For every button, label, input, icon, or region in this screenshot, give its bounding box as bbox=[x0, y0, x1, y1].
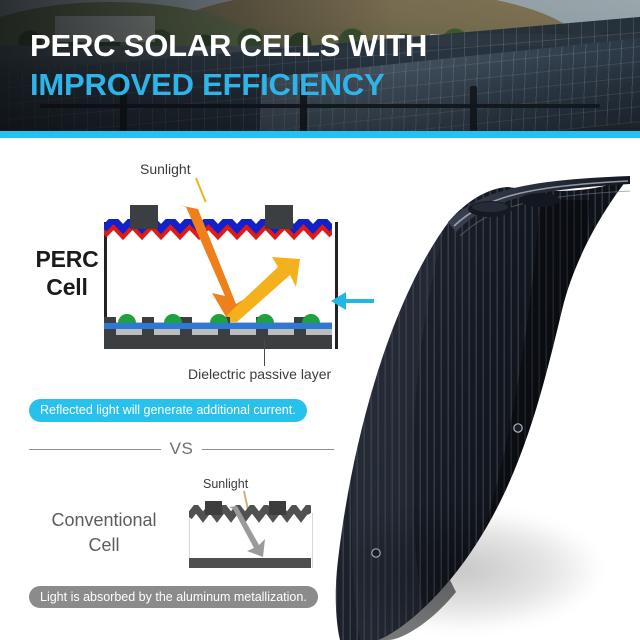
conventional-cell-label-line2: Cell bbox=[24, 533, 184, 558]
infographic-page: PERC SOLAR CELLS WITH IMPROVED EFFICIENC… bbox=[0, 0, 640, 640]
dielectric-leader-line bbox=[264, 340, 265, 366]
accent-rule bbox=[0, 131, 640, 138]
conventional-drawback-badge: Light is absorbed by the aluminum metall… bbox=[29, 586, 318, 608]
flexible-solar-panel-photo bbox=[330, 140, 640, 640]
conventional-cell-diagram bbox=[189, 501, 311, 568]
conventional-sunlight-label: Sunlight bbox=[203, 477, 248, 491]
vs-divider: VS bbox=[29, 438, 334, 460]
perc-passivation-node bbox=[210, 314, 228, 323]
hero-banner: PERC SOLAR CELLS WITH IMPROVED EFFICIENC… bbox=[0, 0, 640, 137]
perc-passivation-node bbox=[164, 314, 182, 323]
perc-dielectric-passive-layer bbox=[104, 323, 332, 329]
divider-line-right bbox=[202, 449, 334, 450]
divider-line-left bbox=[29, 449, 161, 450]
perc-passivation-node bbox=[118, 314, 136, 323]
perc-sunlight-label: Sunlight bbox=[140, 161, 191, 177]
perc-cell-label: PERC Cell bbox=[21, 245, 113, 301]
perc-passivation-node bbox=[302, 314, 320, 323]
conventional-aluminum-metallization bbox=[189, 558, 311, 568]
title-line-1: PERC SOLAR CELLS WITH bbox=[30, 26, 590, 65]
dielectric-passive-layer-label: Dielectric passive layer bbox=[188, 366, 331, 382]
panel-drop-shadow bbox=[350, 510, 600, 630]
conventional-cell-label: Conventional Cell bbox=[24, 508, 184, 558]
vs-label: VS bbox=[170, 439, 194, 459]
perc-sunlight-leader-line bbox=[195, 178, 207, 203]
perc-cell-label-line2: Cell bbox=[21, 273, 113, 301]
conventional-cell-label-line1: Conventional bbox=[24, 508, 184, 533]
perc-passivation-node bbox=[256, 314, 274, 323]
perc-cell-label-line1: PERC bbox=[21, 245, 113, 273]
perc-benefit-badge: Reflected light will generate additional… bbox=[29, 399, 307, 422]
page-title: PERC SOLAR CELLS WITH IMPROVED EFFICIENC… bbox=[30, 26, 590, 104]
title-line-2: IMPROVED EFFICIENCY bbox=[30, 65, 590, 104]
perc-rear-stack bbox=[104, 307, 332, 349]
perc-cell-diagram bbox=[104, 205, 332, 349]
